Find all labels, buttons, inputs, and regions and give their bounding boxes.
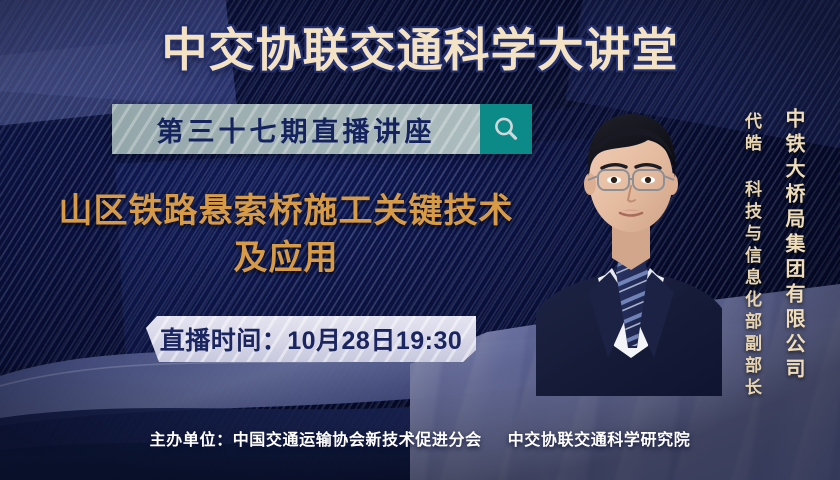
footer-prefix: 主办单位： xyxy=(150,432,233,449)
speaker-photo xyxy=(536,96,722,396)
search-button[interactable] xyxy=(480,104,532,154)
speaker-name-and-title: 代皓 科技与信息化部副部长 xyxy=(739,112,764,400)
lecture-title-line-1: 山区铁路悬索桥施工关键技术 xyxy=(59,192,514,230)
series-banner-field: 第三十七期直播讲座 xyxy=(112,104,480,154)
broadcast-time-badge: 直播时间：10月28日19:30 xyxy=(146,316,476,362)
lecture-title: 山区铁路悬索桥施工关键技术 及应用 xyxy=(26,188,546,282)
footer-org-1: 中国交通运输协会新技术促进分会 xyxy=(233,432,482,449)
speaker-organization: 中铁大桥局集团有限公司 xyxy=(779,108,808,383)
footer-organizers: 主办单位：中国交通运输协会新技术促进分会中交协联交通科学研究院 xyxy=(0,426,840,450)
broadcast-time-text: 直播时间：10月28日19:30 xyxy=(160,321,463,357)
series-banner-label: 第三十七期直播讲座 xyxy=(157,110,436,149)
lecture-title-line-2: 及应用 xyxy=(26,235,546,282)
webinar-poster: 中交协联交通科学大讲堂 第三十七期直播讲座 山区铁路悬索桥施工关键技术 及应用 … xyxy=(0,0,840,480)
series-banner[interactable]: 第三十七期直播讲座 xyxy=(112,104,532,154)
page-title: 中交协联交通科学大讲堂 xyxy=(0,14,840,80)
search-icon xyxy=(492,115,520,143)
footer-org-2: 中交协联交通科学研究院 xyxy=(508,432,691,449)
